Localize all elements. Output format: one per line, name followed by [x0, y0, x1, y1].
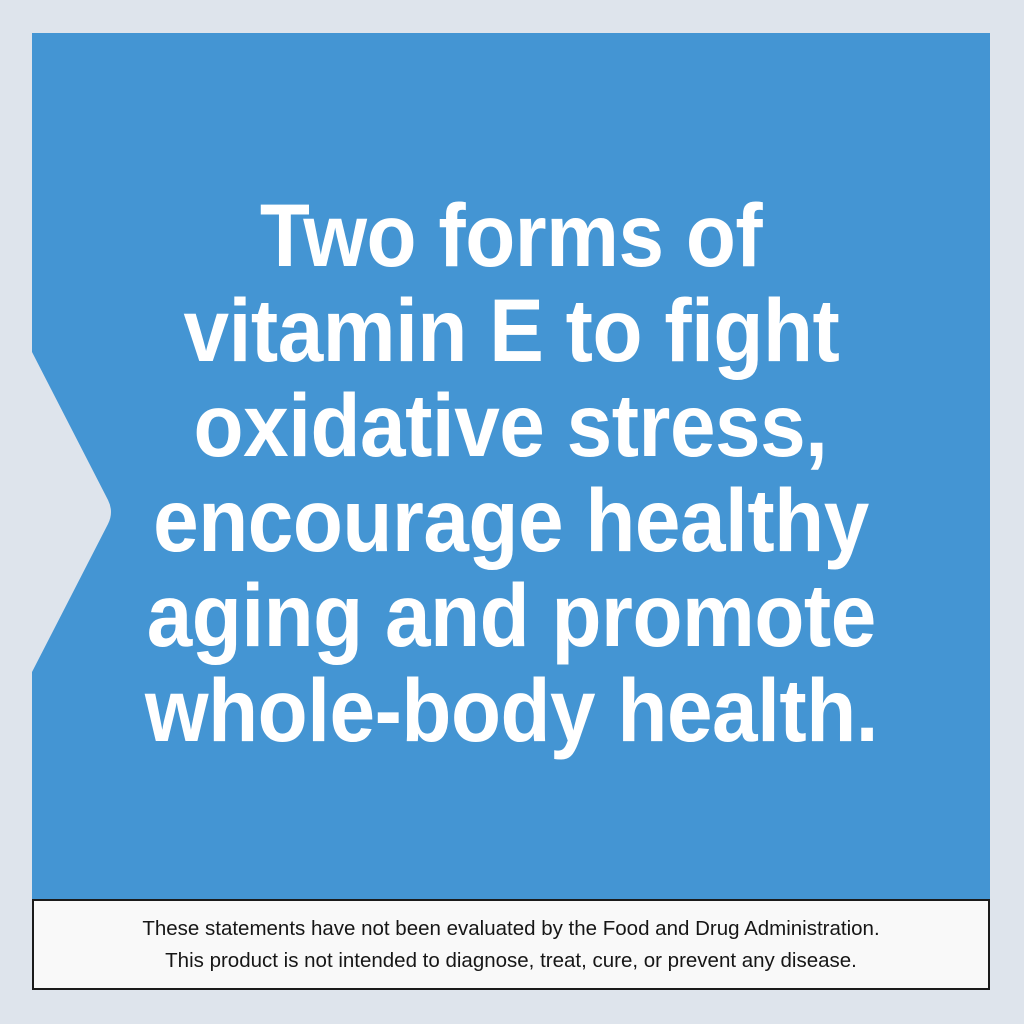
disclaimer-line-2: This product is not intended to diagnose… — [165, 945, 857, 977]
disclaimer-line-1: These statements have not been evaluated… — [142, 913, 879, 945]
fda-disclaimer-box: These statements have not been evaluated… — [32, 899, 990, 990]
promo-card: Two forms of vitamin E to fight oxidativ… — [0, 0, 1024, 1024]
blue-panel — [32, 33, 990, 899]
